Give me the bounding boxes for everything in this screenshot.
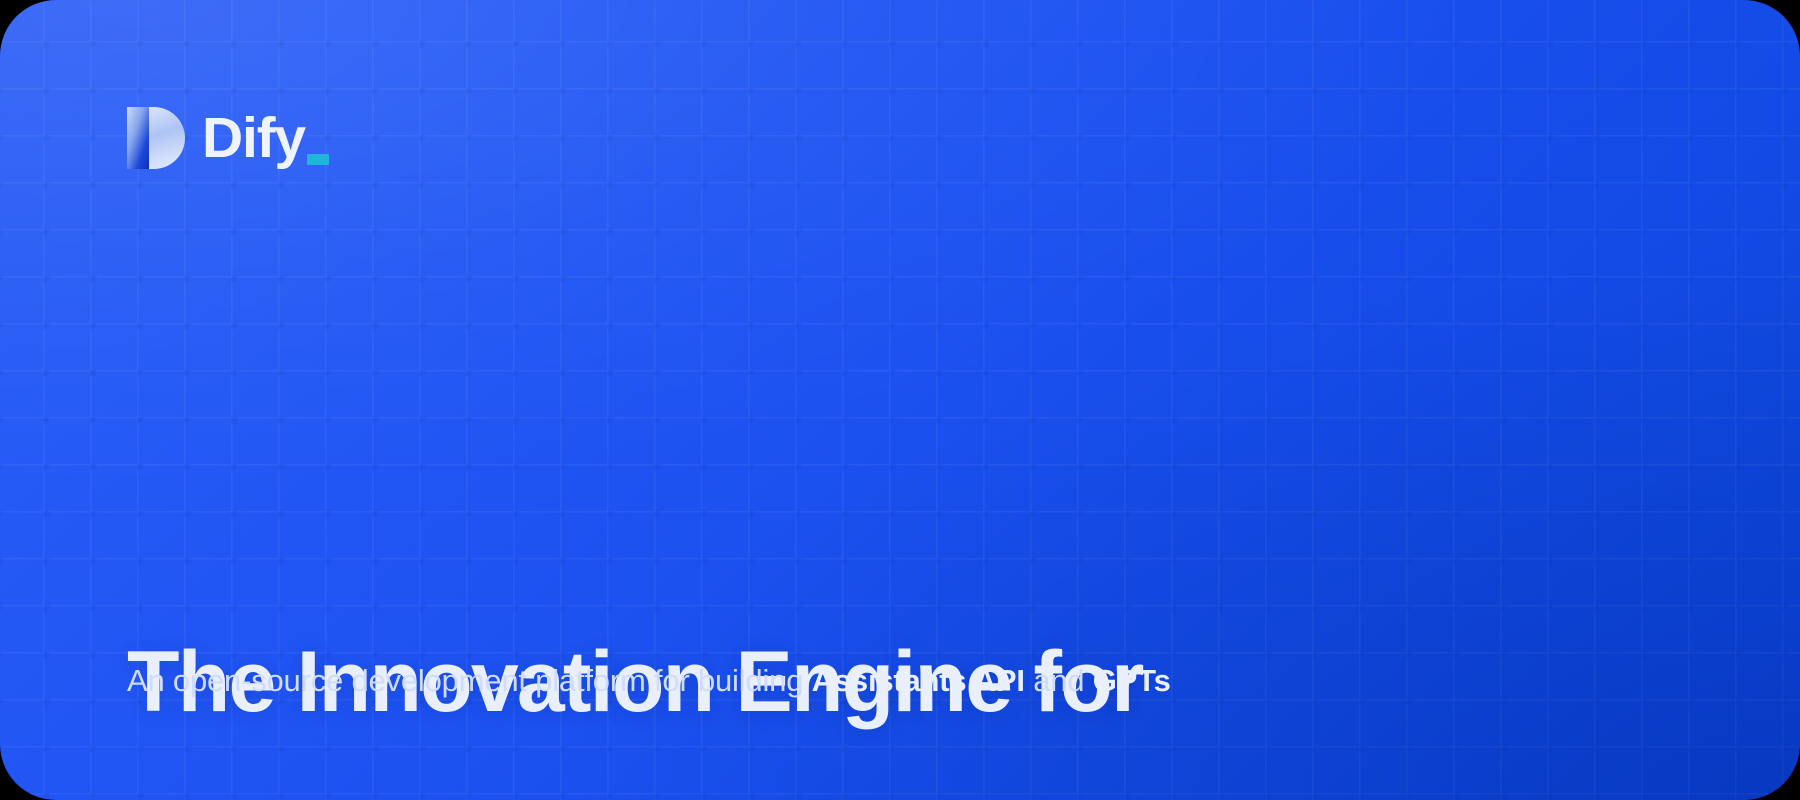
subtitle-part-1: An open-source development platform for … [127, 663, 812, 698]
subtitle-bold-assistants-api: Assistants API [812, 663, 1025, 698]
accent-dash-icon [307, 154, 329, 165]
subtitle-bold-gpts: GPTs [1093, 663, 1171, 698]
dify-logomark-icon [127, 107, 185, 169]
dify-logo[interactable]: Dify [127, 102, 305, 174]
page-title: The Innovation Engine for Generative AI … [127, 440, 1168, 800]
hero-banner: Dify The Innovation Engine for Generativ… [0, 0, 1800, 800]
page-subtitle: An open-source development platform for … [127, 661, 1171, 701]
subtitle-part-2: and [1025, 663, 1093, 698]
dify-wordmark: Dify [202, 110, 305, 167]
dify-wordmark-text: Dify [202, 110, 305, 167]
